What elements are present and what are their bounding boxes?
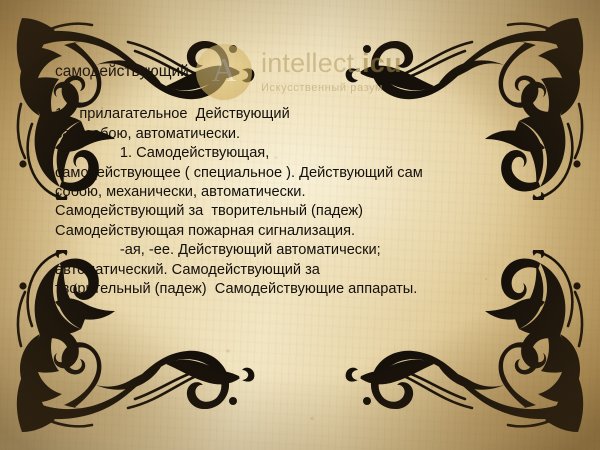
dictionary-card: A intellect.icu Искусственный разум само…	[0, 0, 600, 450]
edge-vignette	[0, 0, 600, 450]
